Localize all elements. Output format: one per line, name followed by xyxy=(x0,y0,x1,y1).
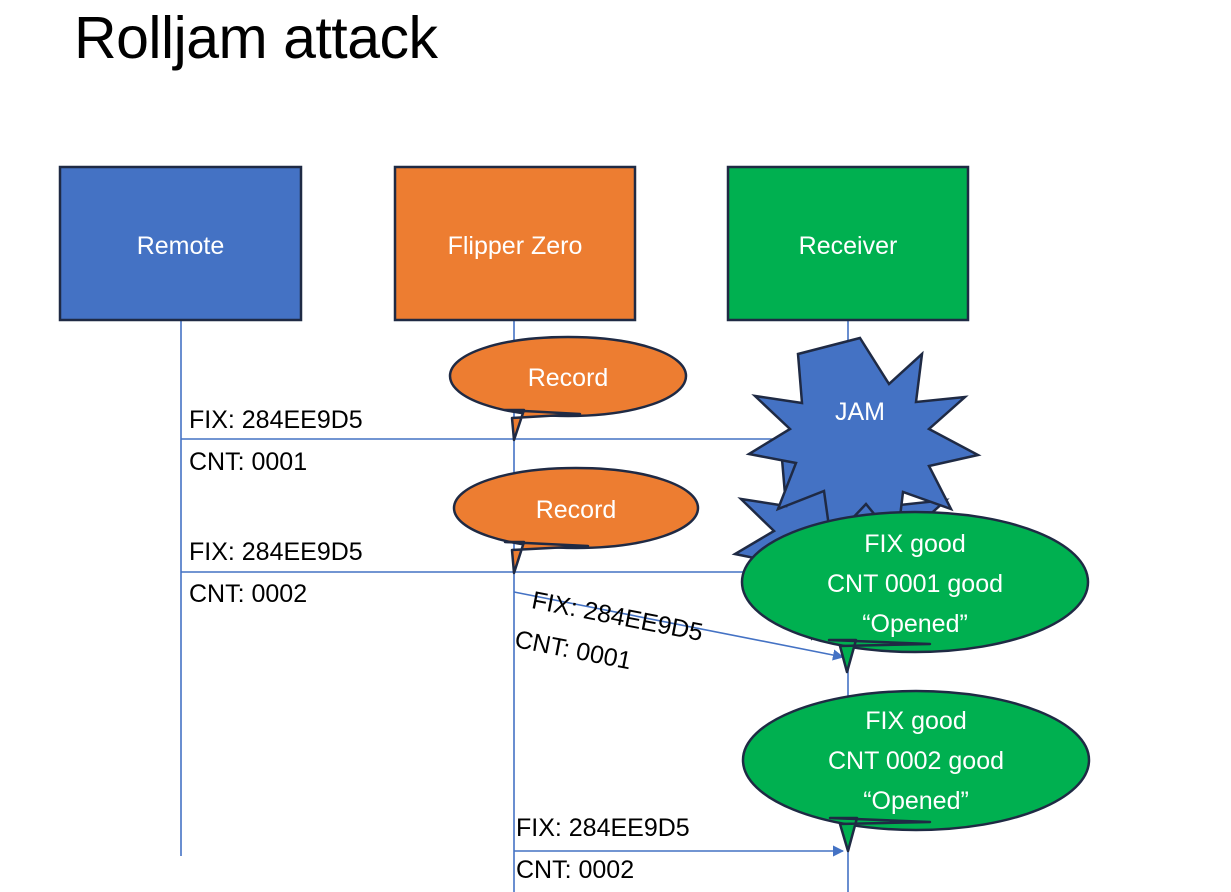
slide-canvas: Rolljam attack Remote Flipper Zero Recei… xyxy=(0,0,1231,892)
callout-record-1-label: Record xyxy=(450,363,686,394)
message-2-fix-label: FIX: 284EE9D5 xyxy=(189,538,363,567)
message-4-cnt-label: CNT: 0002 xyxy=(516,856,634,885)
callout-opened-2-line-3: “Opened” xyxy=(743,786,1089,817)
jam-star-1-label: JAM xyxy=(800,398,920,427)
callout-opened-2-line-2: CNT 0002 good xyxy=(743,746,1089,777)
callout-opened-2-line-1: FIX good xyxy=(743,706,1089,737)
message-1-fix-label: FIX: 284EE9D5 xyxy=(189,406,363,435)
actor-label-remote: Remote xyxy=(60,231,301,261)
actor-label-flipper: Flipper Zero xyxy=(395,231,635,261)
page-title: Rolljam attack xyxy=(74,4,438,72)
callout-opened-1-line-1: FIX good xyxy=(742,529,1088,560)
callout-opened-1-line-2: CNT 0001 good xyxy=(742,569,1088,600)
message-2-cnt-label: CNT: 0002 xyxy=(189,580,307,609)
message-1-cnt-label: CNT: 0001 xyxy=(189,448,307,477)
callout-opened-1-line-3: “Opened” xyxy=(742,609,1088,640)
actor-label-receiver: Receiver xyxy=(728,231,968,261)
callout-record-2-label: Record xyxy=(454,495,698,526)
message-4-fix-label: FIX: 284EE9D5 xyxy=(516,814,690,843)
